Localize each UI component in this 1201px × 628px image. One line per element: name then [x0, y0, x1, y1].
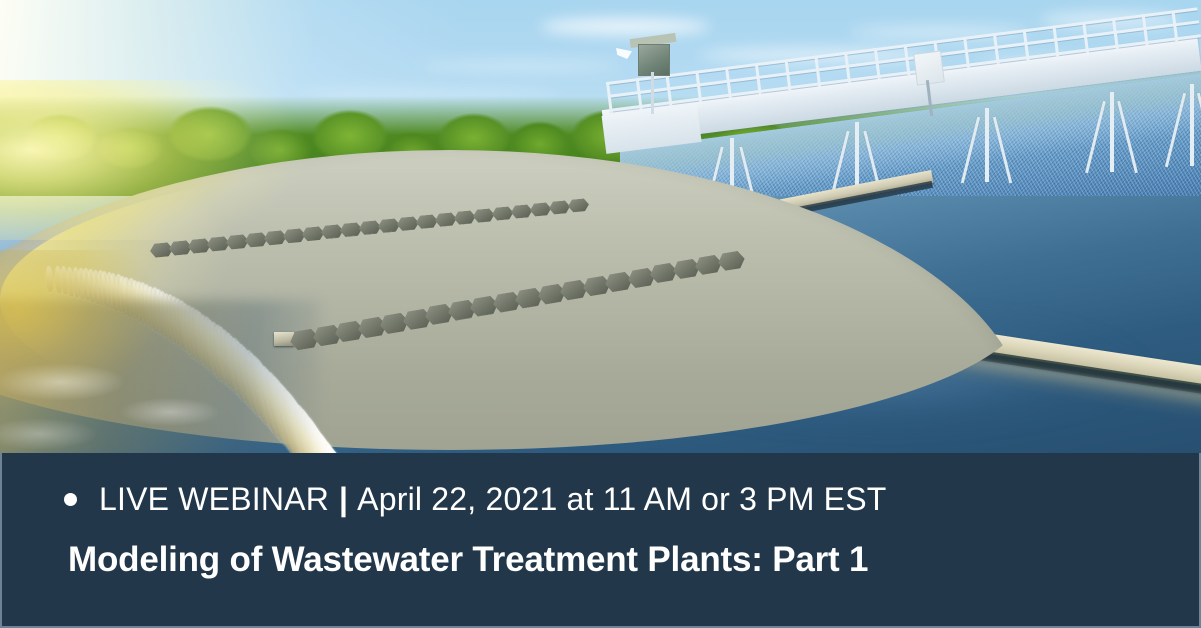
cabinet-support	[651, 72, 654, 114]
control-cabinet	[638, 44, 670, 76]
webinar-kicker: LIVE WEBINAR | April 22, 2021 at 11 AM o…	[64, 481, 887, 518]
bullet-icon	[64, 493, 77, 506]
kicker-separator: |	[329, 481, 357, 518]
chain-float-block	[274, 332, 294, 346]
weir-foam	[0, 352, 260, 456]
caption-bar: LIVE WEBINAR | April 22, 2021 at 11 AM o…	[0, 453, 1201, 628]
white-flag	[616, 48, 632, 59]
schedule-label: April 22, 2021 at 11 AM or 3 PM EST	[357, 481, 886, 518]
hero-photo	[0, 0, 1201, 456]
webinar-title: Modeling of Wastewater Treatment Plants:…	[68, 540, 868, 580]
walkway-bridge	[604, 0, 1201, 190]
equipment-box	[913, 50, 945, 85]
cloud	[420, 60, 620, 72]
webinar-banner: LIVE WEBINAR | April 22, 2021 at 11 AM o…	[0, 0, 1201, 628]
event-type-label: LIVE WEBINAR	[99, 481, 329, 518]
weir-stream	[45, 266, 54, 292]
